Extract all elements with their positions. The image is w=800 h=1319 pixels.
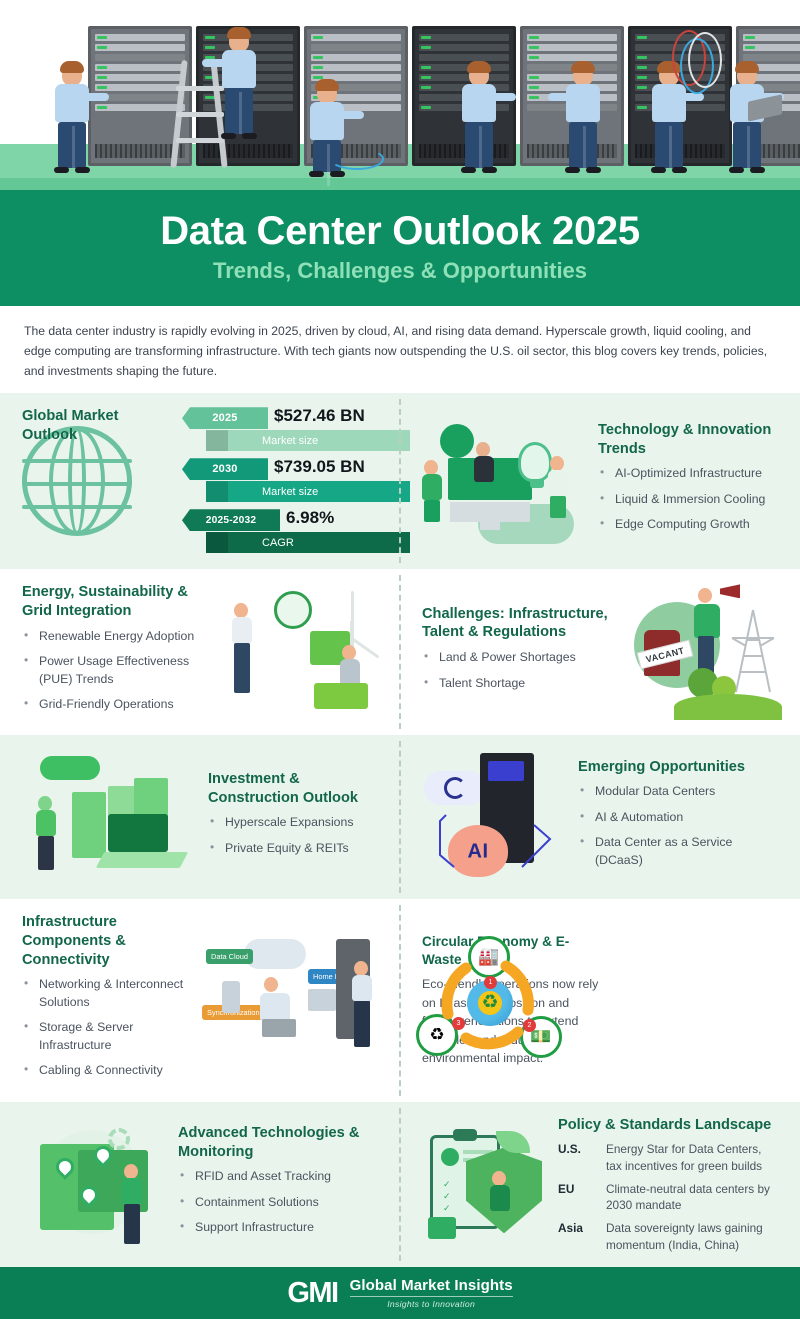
list-item: Liquid & Immersion Cooling bbox=[598, 491, 778, 508]
eco-badge-icon bbox=[274, 591, 312, 629]
title-band: Data Center Outlook 2025 Trends, Challen… bbox=[0, 190, 800, 306]
node-badge: 2 bbox=[523, 1019, 536, 1032]
bullet-list: Modular Data Centers AI & Automation Dat… bbox=[578, 783, 778, 869]
panel-investment: Investment & Construction Outlook Hypers… bbox=[0, 735, 400, 899]
page-subtitle: Trends, Challenges & Opportunities bbox=[0, 258, 800, 284]
metric-row: 2025-2032 6.98% CAGR bbox=[182, 509, 378, 555]
panel-technology: Technology & Innovation Trends AI-Optimi… bbox=[400, 393, 800, 569]
lightbulb-icon bbox=[518, 442, 552, 482]
hero-floor-shadow bbox=[0, 178, 800, 190]
policy-region: U.S. bbox=[558, 1141, 596, 1174]
energy-illustration bbox=[218, 585, 378, 719]
list-item: Edge Computing Growth bbox=[598, 516, 778, 533]
list-item: Support Infrastructure bbox=[178, 1219, 378, 1236]
list-item: Private Equity & REITs bbox=[208, 840, 378, 857]
policy-illustration: ✓✓✓✓ bbox=[422, 1125, 552, 1243]
section-title: Advanced Technologies & Monitoring bbox=[178, 1124, 378, 1161]
laptop-icon bbox=[262, 1019, 296, 1037]
list-item: Modular Data Centers bbox=[578, 783, 778, 800]
bullet-list: RFID and Asset Tracking Containment Solu… bbox=[178, 1168, 378, 1236]
section-title: Challenges: Infrastructure, Talent & Reg… bbox=[422, 605, 622, 642]
briefcase-icon bbox=[428, 1217, 456, 1239]
list-item: Storage & Server Infrastructure bbox=[22, 1019, 194, 1054]
metric-period: 2025-2032 bbox=[182, 509, 280, 531]
phone-icon bbox=[222, 981, 240, 1013]
list-item: RFID and Asset Tracking bbox=[178, 1168, 378, 1185]
monitor-icon bbox=[308, 989, 336, 1011]
page-title: Data Center Outlook 2025 bbox=[0, 210, 800, 252]
policy-detail: Energy Star for Data Centers, tax incent… bbox=[606, 1141, 778, 1174]
metric-period: 2025 bbox=[182, 407, 268, 429]
section-title: Infrastructure Components & Connectivity bbox=[22, 913, 194, 969]
list-item: Hyperscale Expansions bbox=[208, 814, 378, 831]
section-title: Policy & Standards Landscape bbox=[558, 1116, 778, 1135]
panel-advanced-tech: Advanced Technologies & Monitoring RFID … bbox=[0, 1102, 400, 1267]
data-cloud-tag: Data Cloud bbox=[206, 949, 253, 964]
policy-row: EU Climate-neutral data centers by 2030 … bbox=[558, 1181, 778, 1214]
list-item: Networking & Interconnect Solutions bbox=[22, 976, 194, 1011]
metric-label: Market size bbox=[262, 435, 318, 447]
metric-row: 2025 $527.46 BN Market size bbox=[182, 407, 378, 453]
bullet-list: AI-Optimized Infrastructure Liquid & Imm… bbox=[598, 465, 778, 533]
panel-circular-economy: Circular Economy & E-Waste Eco-friendly … bbox=[400, 899, 800, 1101]
panel-policy: ✓✓✓✓ Policy & Standards Landscape U.S. bbox=[400, 1102, 800, 1267]
node-badge: 3 bbox=[452, 1017, 465, 1030]
list-item: AI-Optimized Infrastructure bbox=[598, 465, 778, 482]
battery-icon bbox=[314, 683, 368, 709]
section-title: Energy, Sustainability & Grid Integratio… bbox=[22, 583, 212, 620]
section-title: Technology & Innovation Trends bbox=[598, 421, 778, 458]
bullet-list: Hyperscale Expansions Private Equity & R… bbox=[208, 814, 378, 857]
hero-illustration bbox=[0, 0, 800, 190]
bullet-list: Land & Power Shortages Talent Shortage bbox=[422, 649, 622, 692]
cable-bundle bbox=[672, 30, 728, 104]
network-cable bbox=[330, 148, 384, 170]
connectivity-illustration: Data Cloud Home PC Synchronization bbox=[200, 933, 378, 1069]
cloud-icon bbox=[40, 756, 100, 780]
panel-energy: Energy, Sustainability & Grid Integratio… bbox=[0, 569, 400, 735]
technician-figure bbox=[462, 65, 496, 168]
policy-region: Asia bbox=[558, 1220, 596, 1253]
technology-illustration bbox=[422, 416, 592, 546]
metric-label: Market size bbox=[262, 486, 318, 498]
metric-row: 2030 $739.05 BN Market size bbox=[182, 458, 378, 504]
opportunities-illustration: AI bbox=[422, 749, 572, 885]
metric-period: 2030 bbox=[182, 458, 268, 480]
policy-row: Asia Data sovereignty laws gaining momen… bbox=[558, 1220, 778, 1253]
list-item: Data Center as a Service (DCaaS) bbox=[578, 834, 778, 869]
challenges-illustration: VACANT bbox=[628, 584, 778, 720]
content-row: Global Market Outlook 2025 $527.46 BN Ma… bbox=[0, 393, 800, 569]
list-item: Power Usage Effectiveness (PUE) Trends bbox=[22, 653, 212, 688]
content-row: Investment & Construction Outlook Hypers… bbox=[0, 735, 800, 899]
list-item: Cabling & Connectivity bbox=[22, 1062, 194, 1079]
policy-list: U.S. Energy Star for Data Centers, tax i… bbox=[558, 1141, 778, 1253]
policy-region: EU bbox=[558, 1181, 596, 1214]
monitoring-illustration bbox=[22, 1124, 172, 1244]
gmi-logo-mark: GMI bbox=[287, 1277, 337, 1310]
panel-infrastructure: Infrastructure Components & Connectivity… bbox=[0, 899, 400, 1101]
bullet-list: Networking & Interconnect Solutions Stor… bbox=[22, 976, 194, 1079]
policy-detail: Data sovereignty laws gaining momentum (… bbox=[606, 1220, 778, 1253]
infographic-page: Data Center Outlook 2025 Trends, Challen… bbox=[0, 0, 800, 1200]
intro-paragraph: The data center industry is rapidly evol… bbox=[0, 306, 800, 393]
panel-challenges: Challenges: Infrastructure, Talent & Reg… bbox=[400, 569, 800, 735]
footer-logo-bar: GMI Global Market Insights Insights to I… bbox=[0, 1267, 800, 1319]
investment-illustration bbox=[22, 752, 202, 882]
company-tagline: Insights to Innovation bbox=[350, 1296, 513, 1309]
list-item: Land & Power Shortages bbox=[422, 649, 622, 666]
metric-label: CAGR bbox=[262, 537, 294, 549]
metric-value: 6.98% bbox=[286, 508, 334, 528]
metric-value: $739.05 BN bbox=[274, 457, 365, 477]
list-item: Containment Solutions bbox=[178, 1194, 378, 1211]
circular-economy-diagram: 🏭 💵 ♻ 1 2 3 bbox=[422, 940, 554, 1062]
panel-global-market: Global Market Outlook 2025 $527.46 BN Ma… bbox=[0, 393, 400, 569]
content-grid: Global Market Outlook 2025 $527.46 BN Ma… bbox=[0, 393, 800, 1267]
megaphone-icon bbox=[720, 584, 740, 598]
metric-value: $527.46 BN bbox=[274, 406, 365, 426]
content-row: Energy, Sustainability & Grid Integratio… bbox=[0, 569, 800, 735]
list-item: AI & Automation bbox=[578, 809, 778, 826]
technician-figure bbox=[55, 65, 89, 168]
node-badge: 1 bbox=[484, 976, 497, 989]
cloud-icon bbox=[244, 939, 306, 969]
section-title: Emerging Opportunities bbox=[578, 758, 778, 777]
section-title: Investment & Construction Outlook bbox=[208, 770, 378, 807]
technician-figure bbox=[566, 65, 600, 168]
technician-figure bbox=[222, 31, 256, 134]
content-row: Advanced Technologies & Monitoring RFID … bbox=[0, 1102, 800, 1267]
section-title: Global Market Outlook bbox=[22, 407, 172, 444]
content-row: Infrastructure Components & Connectivity… bbox=[0, 899, 800, 1101]
list-item: Grid-Friendly Operations bbox=[22, 696, 212, 713]
company-name: Global Market Insights bbox=[350, 1277, 513, 1294]
market-metrics: 2025 $527.46 BN Market size 2030 $739.05… bbox=[182, 407, 378, 555]
list-item: Renewable Energy Adoption bbox=[22, 628, 212, 645]
list-item: Talent Shortage bbox=[422, 675, 622, 692]
policy-detail: Climate-neutral data centers by 2030 man… bbox=[606, 1181, 778, 1214]
bullet-list: Renewable Energy Adoption Power Usage Ef… bbox=[22, 628, 212, 714]
policy-row: U.S. Energy Star for Data Centers, tax i… bbox=[558, 1141, 778, 1174]
panel-opportunities: AI Emerging Opportunities Modular Data C… bbox=[400, 735, 800, 899]
